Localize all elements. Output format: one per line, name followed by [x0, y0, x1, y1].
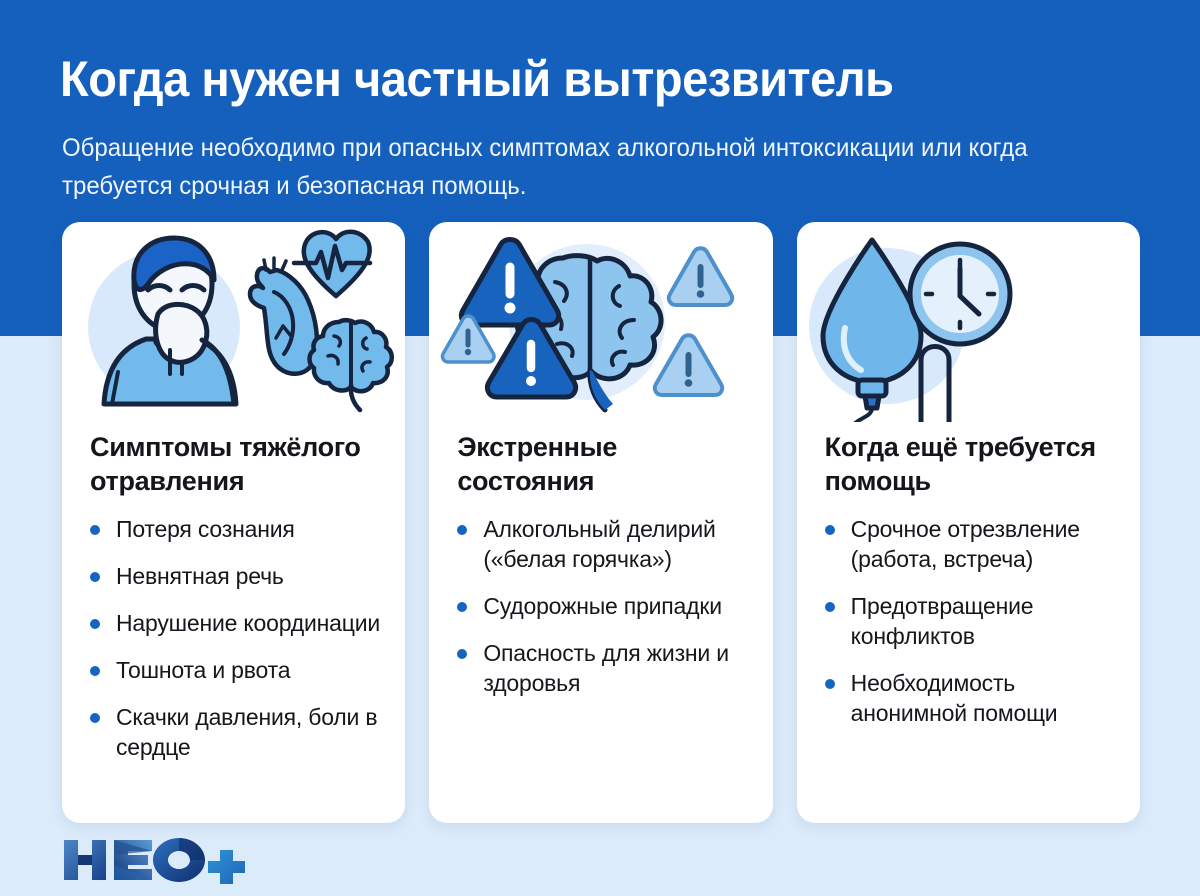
bullet-icon	[90, 666, 100, 676]
list-item-label: Невнятная речь	[116, 563, 284, 589]
card-1-title: Симптомы тяжёлого отравления	[62, 422, 405, 498]
list-item-label: Скачки давления, боли в сердце	[116, 704, 377, 760]
card-3-list: Срочное отрезвление (работа, встреча) Пр…	[797, 514, 1140, 728]
bullet-icon	[457, 602, 467, 612]
infographic-poster: Когда нужен частный вытрезвитель Обращен…	[0, 0, 1200, 896]
page-subtitle: Обращение необходимо при опасных симптом…	[62, 129, 1080, 205]
list-item: Тошнота и рвота	[90, 655, 389, 685]
card-1-list: Потеря сознания Невнятная речь Нарушение…	[62, 514, 405, 762]
list-item-label: Предотвращение конфликтов	[851, 593, 1034, 649]
list-item: Потеря сознания	[90, 514, 389, 544]
card-2-illustration	[429, 222, 772, 422]
list-item-label: Судорожные припадки	[483, 593, 722, 619]
list-item-label: Тошнота и рвота	[116, 657, 290, 683]
hand	[156, 304, 207, 362]
heart-pulse-icon	[294, 232, 370, 296]
list-item: Срочное отрезвление (работа, встреча)	[825, 514, 1124, 574]
card-when-else-help: Когда ещё требуется помощь Срочное отрез…	[797, 222, 1140, 823]
bullet-icon	[457, 649, 467, 659]
warning-triangle-icon	[669, 248, 732, 305]
list-item: Опасность для жизни и здоровья	[457, 638, 756, 698]
card-severe-poisoning: Симптомы тяжёлого отравления Потеря созн…	[62, 222, 405, 823]
bullet-icon	[825, 525, 835, 535]
bullet-icon	[90, 713, 100, 723]
list-item-label: Потеря сознания	[116, 516, 295, 542]
bullet-icon	[825, 679, 835, 689]
help-icon-group	[797, 222, 1139, 422]
list-item-label: Алкогольный делирий («белая горячка»)	[483, 516, 715, 572]
brain-icon	[310, 320, 392, 410]
card-2-list: Алкогольный делирий («белая горячка») Су…	[429, 514, 772, 698]
card-3-illustration	[797, 222, 1140, 422]
list-item: Алкогольный делирий («белая горячка»)	[457, 514, 756, 574]
bullet-icon	[90, 525, 100, 535]
bullet-icon	[90, 619, 100, 629]
card-1-illustration	[62, 222, 405, 422]
cards-row: Симптомы тяжёлого отравления Потеря созн…	[62, 222, 1140, 823]
poisoning-icon-group	[62, 222, 404, 422]
list-item: Нарушение координации	[90, 608, 389, 638]
neo-plus-logo-mark	[60, 836, 250, 884]
list-item-label: Нарушение координации	[116, 610, 380, 636]
emergency-icon-group	[429, 222, 771, 422]
page-title: Когда нужен частный вытрезвитель	[60, 50, 1103, 108]
bullet-icon	[457, 525, 467, 535]
list-item: Судорожные припадки	[457, 591, 756, 621]
warning-triangle-icon	[655, 335, 722, 395]
list-item: Предотвращение конфликтов	[825, 591, 1124, 651]
list-item: Необходимость анонимной помощи	[825, 668, 1124, 728]
anatomical-heart-icon	[250, 258, 317, 374]
card-2-title: Экстренные состояния	[429, 422, 772, 498]
list-item-label: Срочное отрезвление (работа, встреча)	[851, 516, 1080, 572]
bullet-icon	[90, 572, 100, 582]
card-emergency-states: Экстренные состояния Алкогольный делирий…	[429, 222, 772, 823]
list-item-label: Необходимость анонимной помощи	[851, 670, 1058, 726]
list-item-label: Опасность для жизни и здоровья	[483, 640, 729, 696]
list-item: Скачки давления, боли в сердце	[90, 702, 389, 762]
neo-plus-logo	[60, 838, 250, 882]
clock-icon	[910, 244, 1010, 344]
card-3-title: Когда ещё требуется помощь	[797, 422, 1140, 498]
heart-body	[250, 268, 317, 374]
list-item: Невнятная речь	[90, 561, 389, 591]
bullet-icon	[825, 602, 835, 612]
